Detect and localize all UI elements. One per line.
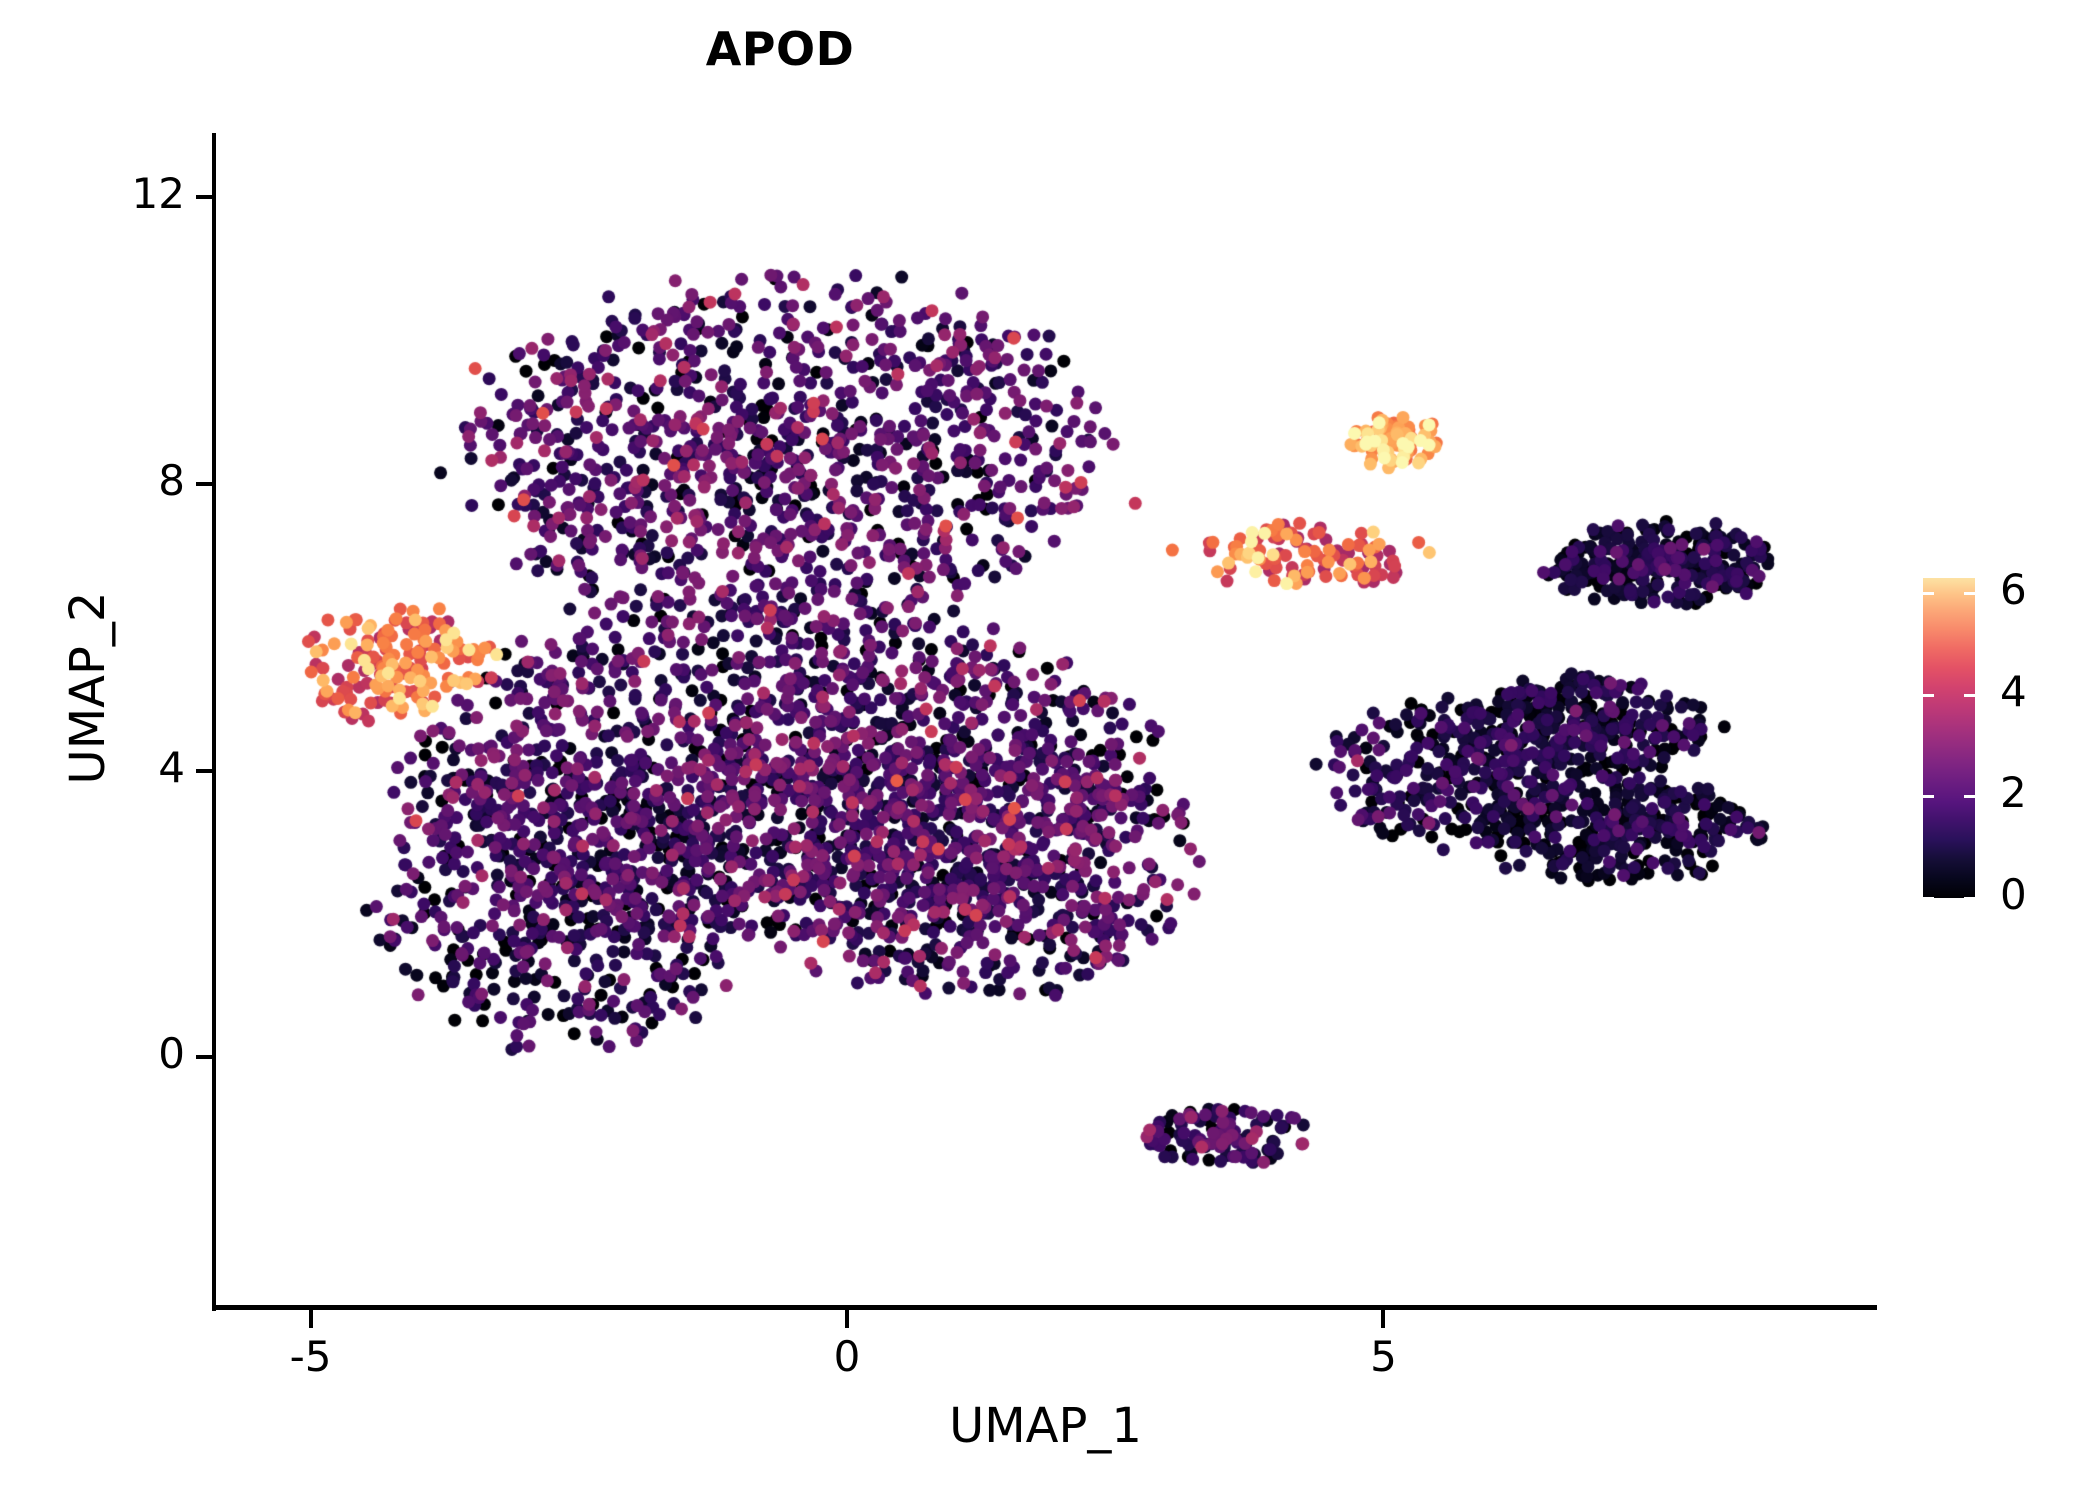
colorbar-tick-mark	[1964, 897, 1975, 900]
x-tick-mark	[1381, 1310, 1385, 1328]
colorbar-tick-mark	[1964, 592, 1975, 595]
colorbar-tick-mark	[1964, 795, 1975, 798]
x-tick-mark	[845, 1310, 849, 1328]
y-tick-mark	[196, 1055, 214, 1059]
y-tick-label: 4	[158, 747, 185, 789]
colorbar-tick-label: 2	[2000, 772, 2027, 814]
colorbar-tick-label: 0	[2000, 874, 2027, 916]
x-tick-label: 0	[747, 1336, 947, 1378]
umap-scatter-figure: APOD 04812 -505 UMAP_1 UMAP_2 0246	[0, 0, 2100, 1500]
colorbar	[1923, 578, 1975, 898]
y-tick-mark	[196, 195, 214, 199]
colorbar-gradient	[1923, 578, 1975, 898]
scatter-plot-canvas	[214, 133, 1877, 1308]
y-tick-mark	[196, 482, 214, 486]
x-axis-spine	[212, 1305, 1877, 1310]
x-tick-label: -5	[211, 1336, 411, 1378]
colorbar-tick-mark	[1923, 694, 1934, 697]
x-axis-label: UMAP_1	[214, 1398, 1877, 1454]
y-tick-label: 8	[158, 460, 185, 502]
colorbar-tick-mark	[1923, 592, 1934, 595]
x-tick-mark	[309, 1310, 313, 1328]
colorbar-tick-mark	[1923, 897, 1934, 900]
colorbar-tick-label: 4	[2000, 671, 2027, 713]
x-tick-label: 5	[1283, 1336, 1483, 1378]
y-axis-spine	[212, 133, 216, 1311]
y-axis-label: UMAP_2	[60, 338, 116, 1038]
colorbar-tick-mark	[1923, 795, 1934, 798]
colorbar-tick-mark	[1964, 694, 1975, 697]
y-tick-mark	[196, 769, 214, 773]
y-tick-label: 0	[158, 1033, 185, 1075]
y-tick-label: 12	[132, 173, 185, 215]
page-title: APOD	[0, 22, 1560, 76]
colorbar-tick-label: 6	[2000, 569, 2027, 611]
